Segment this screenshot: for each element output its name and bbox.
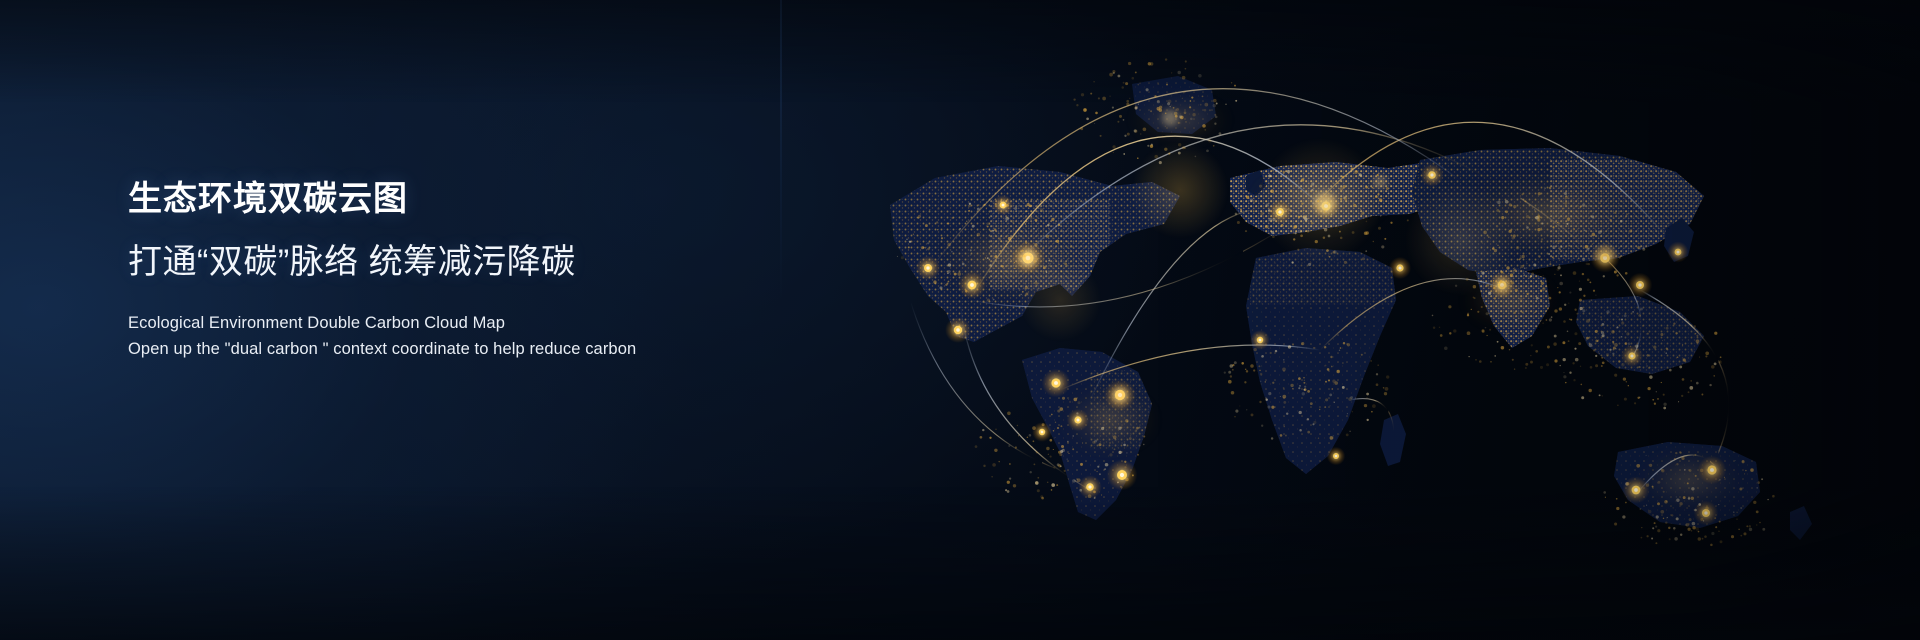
node-brazil-south-core (1120, 473, 1124, 477)
node-au-west-core (1634, 488, 1638, 492)
region-southeast-asia (1570, 290, 1715, 385)
english-subtitle-line-2: Open up the "dual carbon " context coord… (128, 337, 748, 363)
hero-banner: 生态环境双碳云图 打通“双碳”脉络 统筹减污降碳 Ecological Envi… (0, 0, 1920, 640)
page-title: 生态环境双碳云图 (128, 178, 748, 221)
node-mideast-core (1398, 266, 1401, 269)
world-map-svg (760, 0, 1920, 640)
node-russia-core (1430, 173, 1433, 176)
hero-text-block: 生态环境双碳云图 打通“双碳”脉络 统筹减污降碳 Ecological Envi… (128, 178, 748, 362)
node-us-west-core (926, 266, 929, 269)
node-japan-core (1677, 251, 1680, 254)
node-peru-core (1076, 418, 1079, 421)
node-china-south-core (1638, 283, 1641, 286)
world-night-map (760, 0, 1920, 640)
node-argentina-core (1088, 485, 1091, 488)
node-africa-w-core (1259, 339, 1262, 342)
node-canada-core (1002, 204, 1005, 207)
node-brazil-north-core (1054, 381, 1058, 385)
node-africa-s-core (1335, 455, 1338, 458)
node-sea-core (1630, 354, 1633, 357)
node-w-europe-core (1278, 210, 1281, 213)
node-au-south-core (1704, 511, 1707, 514)
english-subtitle-line-1: Ecological Environment Double Carbon Clo… (128, 311, 748, 337)
region-new-zealand (1790, 506, 1812, 540)
node-mexico-core (956, 328, 960, 332)
node-us-central-core (970, 283, 974, 287)
page-subtitle: 打通“双碳”脉络 统筹减污降碳 (128, 241, 748, 284)
node-au-east-core (1710, 468, 1714, 472)
